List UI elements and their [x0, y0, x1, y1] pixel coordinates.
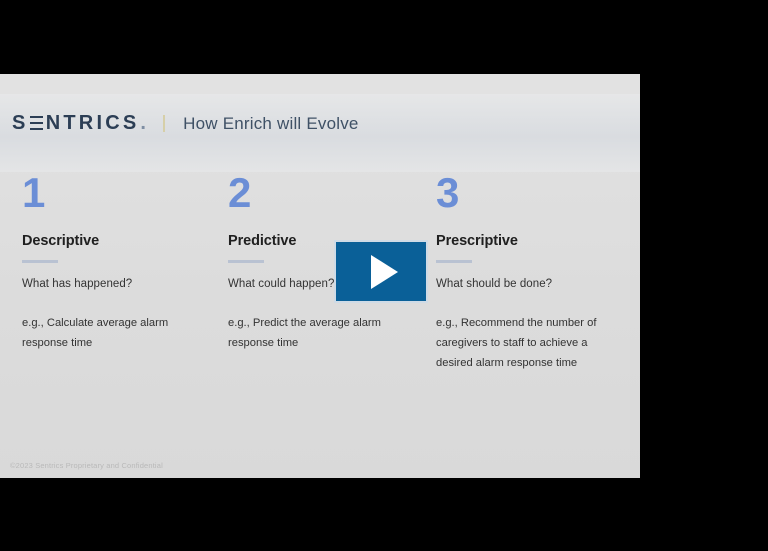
logo-letters-rest: NTRICS — [46, 112, 140, 135]
column-example: e.g., Recommend the number of caregivers… — [436, 314, 616, 374]
column-rule — [228, 260, 264, 263]
shared-screen-slide: S NTRICS . How Enrich will Evolve 1 Desc… — [0, 74, 640, 478]
letterbox-top — [0, 0, 768, 74]
column-question: What should be done? — [436, 278, 616, 290]
column-question: What has happened? — [22, 278, 212, 290]
sentrics-logo: S NTRICS . — [12, 112, 149, 135]
column-prescriptive: 3 Prescriptive What should be done? e.g.… — [436, 172, 616, 374]
column-title: Prescriptive — [436, 233, 616, 249]
column-number: 3 — [436, 172, 616, 214]
play-button[interactable] — [334, 240, 428, 303]
logo-period: . — [140, 112, 149, 135]
column-title: Descriptive — [22, 233, 212, 249]
slide-footer-copyright: ©2023 Sentrics Proprietary and Confident… — [10, 461, 163, 470]
column-rule — [436, 260, 472, 263]
column-number: 1 — [22, 172, 212, 214]
column-example: e.g., Predict the average alarm response… — [228, 314, 428, 354]
slide-title: How Enrich will Evolve — [183, 114, 358, 134]
logo-e-bars-icon — [30, 116, 43, 131]
column-number: 2 — [228, 172, 428, 214]
letterbox-bottom — [0, 478, 768, 551]
slide-header-row: S NTRICS . How Enrich will Evolve — [12, 112, 359, 135]
column-descriptive: 1 Descriptive What has happened? e.g., C… — [22, 172, 212, 354]
header-separator-bar — [163, 115, 165, 132]
video-player-stage: S NTRICS . How Enrich will Evolve 1 Desc… — [0, 0, 768, 551]
column-rule — [22, 260, 58, 263]
play-triangle-icon — [371, 255, 398, 289]
slide-columns: 1 Descriptive What has happened? e.g., C… — [0, 172, 640, 462]
column-example: e.g., Calculate average alarm response t… — [22, 314, 212, 354]
letterbox-right — [640, 74, 768, 478]
logo-letter-s: S — [12, 112, 29, 135]
